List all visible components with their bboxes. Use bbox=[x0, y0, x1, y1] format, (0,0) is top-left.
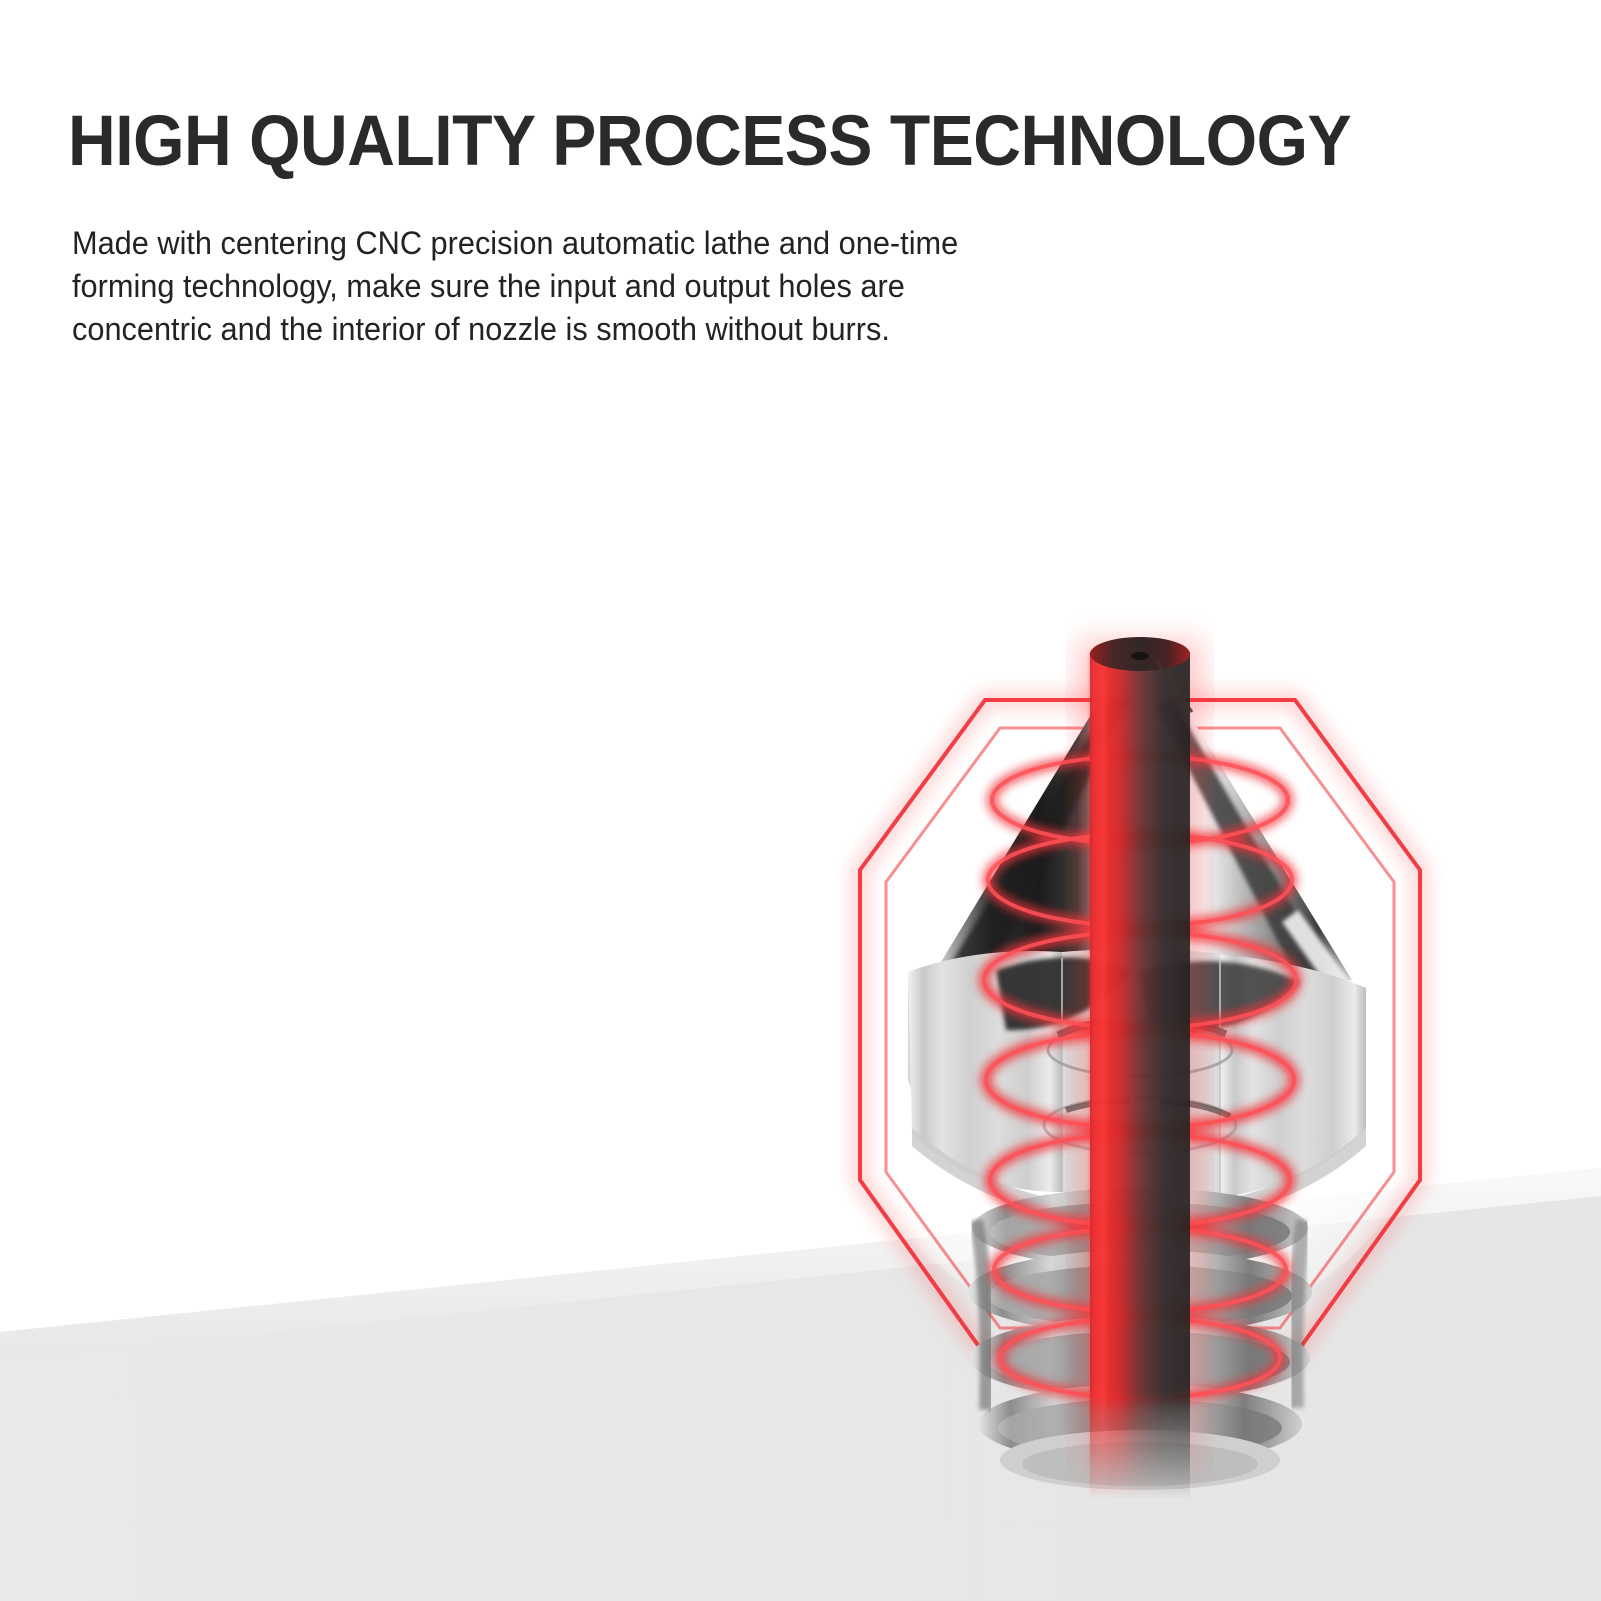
page-title: HIGH QUALITY PROCESS TECHNOLOGY bbox=[68, 104, 1351, 180]
description-line-1: Made with centering CNC precision automa… bbox=[72, 222, 1042, 265]
product-image-nozzle bbox=[800, 580, 1480, 1500]
description-line-2: forming technology, make sure the input … bbox=[72, 265, 1042, 308]
product-feature-banner: HIGH QUALITY PROCESS TECHNOLOGY Made wit… bbox=[0, 0, 1601, 1601]
laser-beam bbox=[1078, 637, 1202, 1500]
description-paragraph: Made with centering CNC precision automa… bbox=[72, 222, 1042, 351]
description-line-3: concentric and the interior of nozzle is… bbox=[72, 308, 1042, 351]
